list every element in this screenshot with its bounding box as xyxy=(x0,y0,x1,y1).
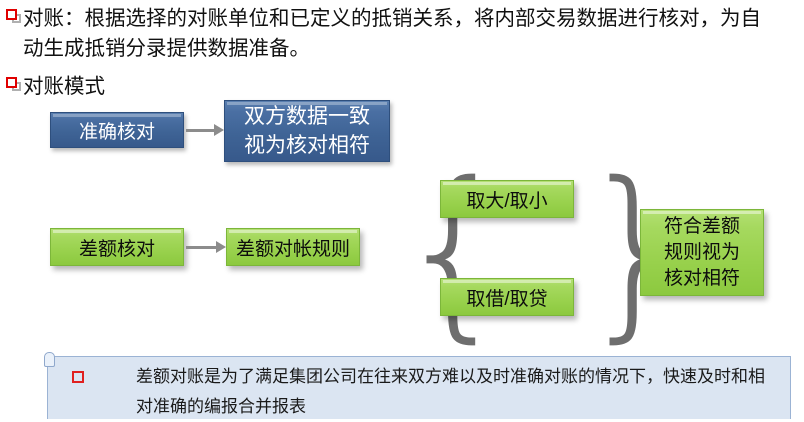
node-label-line2: 规则视为 xyxy=(664,242,740,263)
diagram-node-accurate-check[interactable]: 准确核对 xyxy=(50,112,184,148)
diagram-node-rule-debit-credit[interactable]: 取借/取贷 xyxy=(440,278,574,316)
paragraph-text-definition: 对账：根据选择的对账单位和已定义的抵销关系，将内部交易数据进行核对，为自动生成抵… xyxy=(23,4,768,64)
slide-canvas: { "paragraphs": [ { "id": "reconciliatio… xyxy=(0,0,804,419)
node-label: 取借/取贷 xyxy=(466,284,547,311)
double-square-bullet-icon xyxy=(6,77,23,94)
node-label-line3: 核对相符 xyxy=(664,268,740,289)
callout-textbox[interactable]: 差额对账是为了满足集团公司在往来双方难以及时准确对账的情况下，快速及时和相对准确… xyxy=(47,356,791,419)
arrow-head xyxy=(216,241,226,253)
bullet-paragraph-modes: 对账模式 xyxy=(6,72,105,102)
diagram-node-conclusion[interactable]: 符合差额 规则视为 核对相符 xyxy=(640,209,764,296)
textbox-selection-handle[interactable] xyxy=(44,352,55,367)
paragraph-text-modes: 对账模式 xyxy=(23,72,105,102)
square-outline-bullet-icon xyxy=(72,371,84,383)
callout-text: 差额对账是为了满足集团公司在往来双方难以及时准确对账的情况下，快速及时和相对准确… xyxy=(136,362,776,422)
node-label: 准确核对 xyxy=(79,117,155,144)
bullet-red-square xyxy=(6,77,17,88)
node-label: 差额对帐规则 xyxy=(236,234,350,261)
diagram-node-rule-max-min[interactable]: 取大/取小 xyxy=(440,180,574,218)
node-label: 符合差额 规则视为 核对相符 xyxy=(664,214,740,292)
bullet-paragraph-definition: 对账：根据选择的对账单位和已定义的抵销关系，将内部交易数据进行核对，为自动生成抵… xyxy=(6,4,796,64)
node-label: 双方数据一致 视为核对相符 xyxy=(244,102,370,160)
node-label-line1: 符合差额 xyxy=(664,216,740,237)
bullet-red-square xyxy=(6,9,17,20)
arrow-head xyxy=(214,124,224,136)
arrow-shaft xyxy=(186,129,214,132)
node-label: 差额核对 xyxy=(79,234,155,261)
diagram-node-match-result[interactable]: 双方数据一致 视为核对相符 xyxy=(224,100,390,162)
arrow-shaft xyxy=(186,246,216,249)
arrow-difference-to-rule-icon xyxy=(186,241,226,253)
double-square-bullet-icon xyxy=(6,9,23,26)
diagram-node-difference-check[interactable]: 差额核对 xyxy=(50,228,184,266)
node-label-line2: 视为核对相符 xyxy=(244,134,370,157)
node-label-line1: 双方数据一致 xyxy=(244,105,370,128)
diagram-node-difference-rule[interactable]: 差额对帐规则 xyxy=(226,228,360,266)
arrow-accurate-to-result-icon xyxy=(186,124,224,136)
node-label: 取大/取小 xyxy=(466,186,547,213)
